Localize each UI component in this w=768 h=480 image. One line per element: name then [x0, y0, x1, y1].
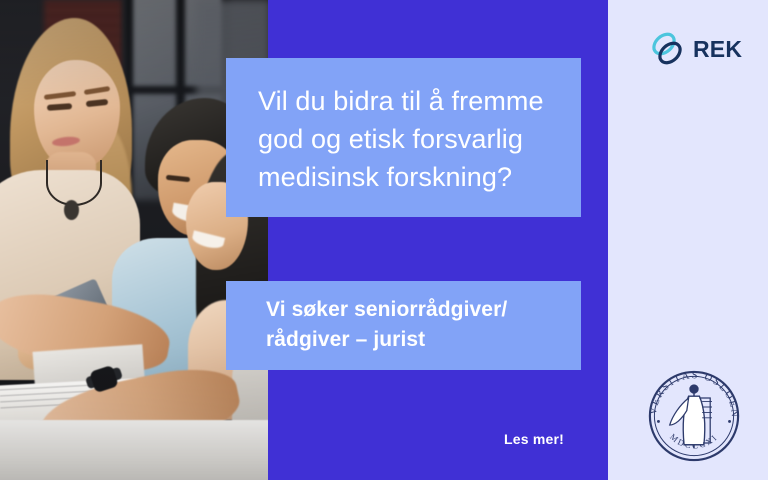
uio-seal: UNIVERSITAS OSLOENSIS MDCCCXI	[640, 362, 748, 470]
role-box: Vi søker seniorrådgiver/ rådgiver – juri…	[226, 281, 581, 370]
headline-text: Vil du bidra til å fremme god og etisk f…	[258, 82, 558, 196]
role-line-2: rådgiver – jurist	[266, 325, 566, 355]
rek-wordmark: REK	[693, 38, 742, 61]
rek-logo[interactable]: REK	[648, 26, 744, 72]
headline-box: Vil du bidra til å fremme god og etisk f…	[226, 58, 581, 217]
headline-line-3: medisinsk forskning?	[258, 158, 558, 196]
role-line-1: Vi søker seniorrådgiver/	[266, 295, 566, 325]
job-ad-banner: REK UNIVERSITAS OSLOENSIS MDCCCXI	[0, 0, 768, 480]
headline-line-2: god og etisk forsvarlig	[258, 120, 558, 158]
read-more-link[interactable]: Les mer!	[504, 431, 564, 447]
interlocking-rings-icon	[648, 27, 690, 71]
role-text: Vi søker seniorrådgiver/ rådgiver – juri…	[266, 295, 566, 355]
headline-line-1: Vil du bidra til å fremme	[258, 82, 558, 120]
